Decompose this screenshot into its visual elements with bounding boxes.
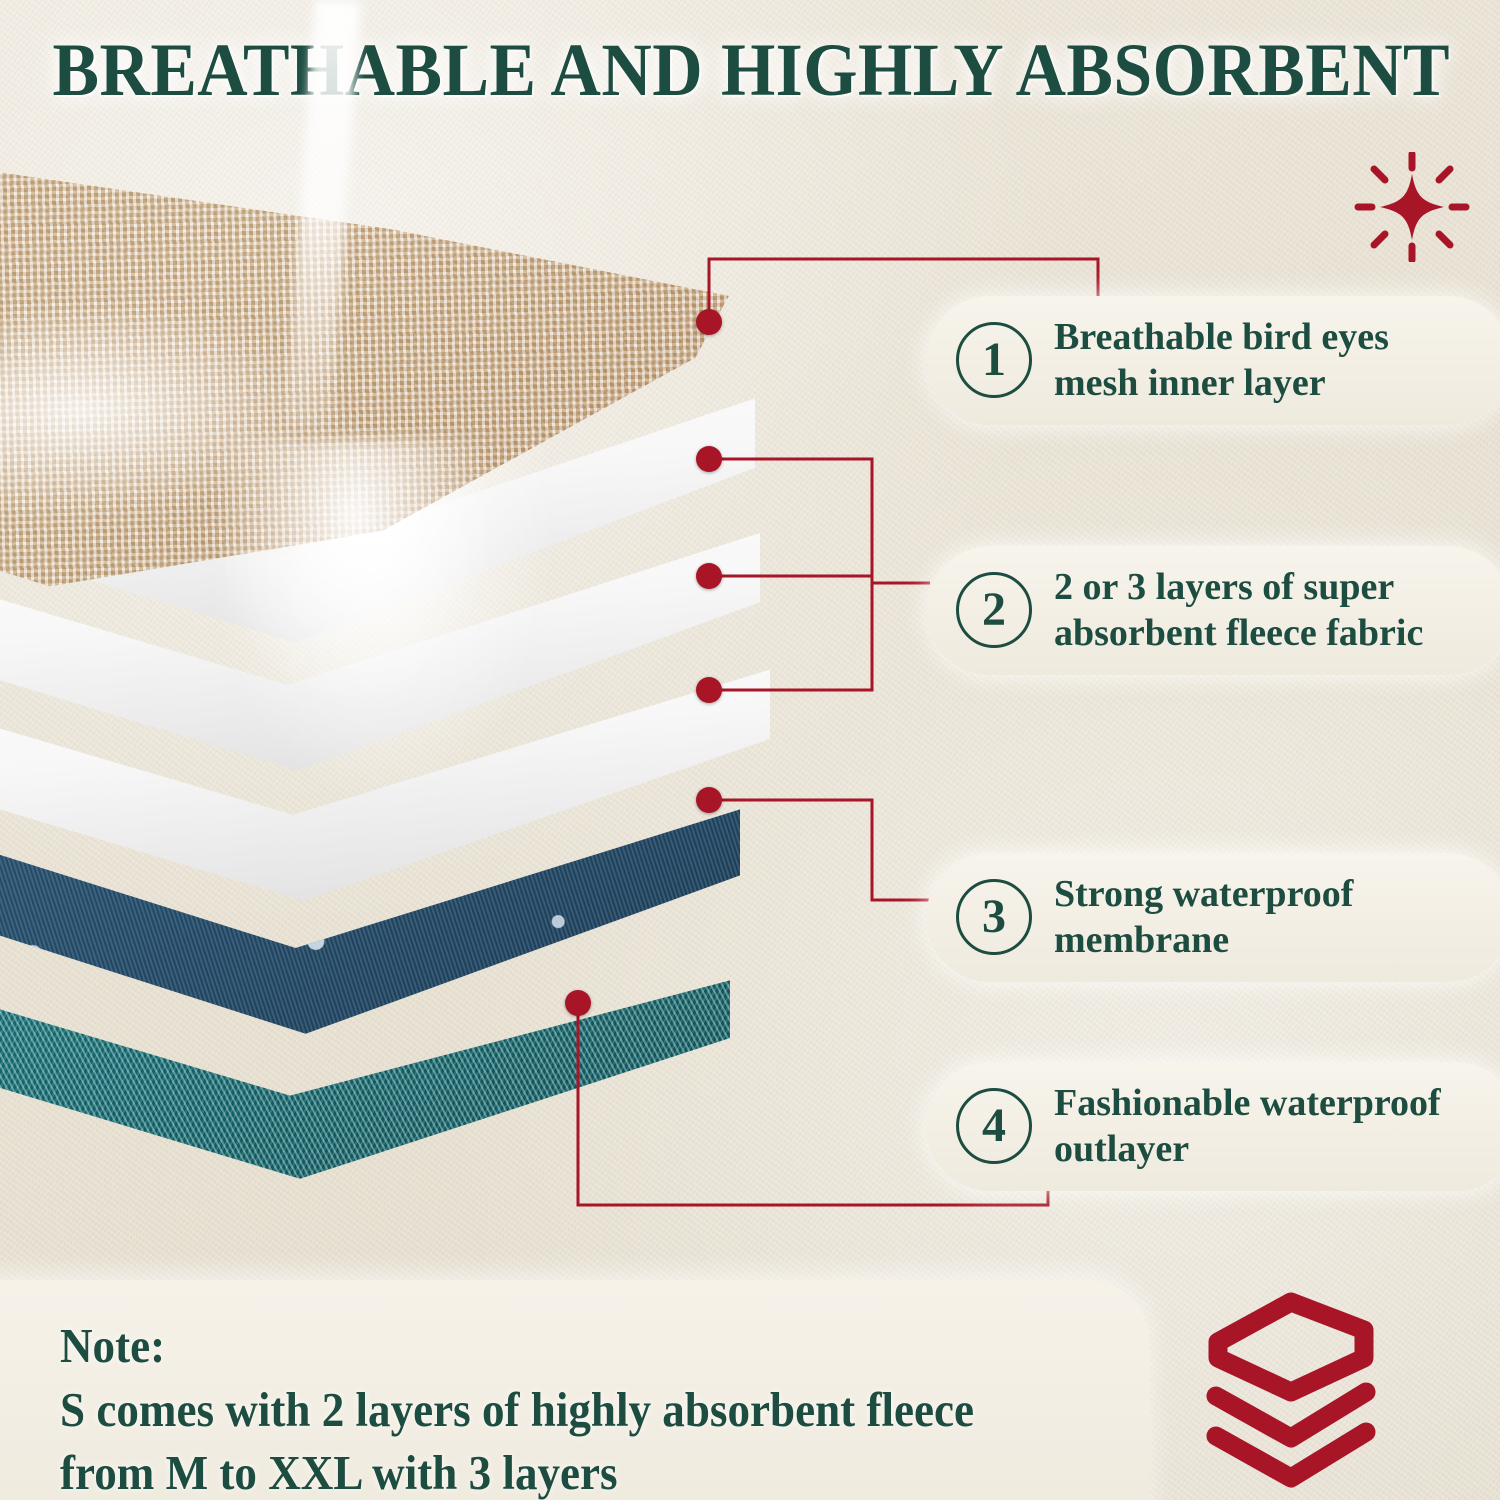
callout-4-label: Fashionable waterproof outlayer xyxy=(1054,1080,1441,1173)
note-heading: Note: xyxy=(60,1314,974,1378)
callout-3: 3 Strong waterproof membrane xyxy=(926,853,1500,982)
sparkle-icon xyxy=(1352,152,1472,262)
callout-2: 2 2 or 3 layers of super absorbent fleec… xyxy=(926,546,1500,675)
callout-1-label: Breathable bird eyes mesh inner layer xyxy=(1054,314,1389,407)
water-splash xyxy=(190,440,520,740)
callout-3-number: 3 xyxy=(956,879,1032,955)
callout-4: 4 Fashionable waterproof outlayer xyxy=(926,1062,1500,1191)
callout-2-label: 2 or 3 layers of super absorbent fleece … xyxy=(1054,564,1423,657)
note-line-1: S comes with 2 layers of highly absorben… xyxy=(60,1378,974,1442)
infographic-canvas: BREATHABLE AND HIGHLY ABSORBENT xyxy=(0,0,1500,1500)
layers-stack-icon xyxy=(1186,1288,1396,1488)
anchor-dot-1 xyxy=(696,309,722,335)
note-panel: Note: S comes with 2 layers of highly ab… xyxy=(0,1280,1150,1500)
anchor-dot-3 xyxy=(696,787,722,813)
anchor-dot-2c xyxy=(696,677,722,703)
callout-1: 1 Breathable bird eyes mesh inner layer xyxy=(926,296,1500,425)
callout-1-number: 1 xyxy=(956,322,1032,398)
anchor-dot-4 xyxy=(565,990,591,1016)
callout-3-label: Strong waterproof membrane xyxy=(1054,871,1353,964)
callout-4-number: 4 xyxy=(956,1088,1032,1164)
anchor-dot-2a xyxy=(696,446,722,472)
callout-2-number: 2 xyxy=(956,572,1032,648)
anchor-dot-2b xyxy=(696,563,722,589)
note-text: Note: S comes with 2 layers of highly ab… xyxy=(60,1314,974,1500)
note-line-2: from M to XXL with 3 layers xyxy=(60,1441,974,1500)
fabric-layer-stack xyxy=(0,110,860,1170)
page-title: BREATHABLE AND HIGHLY ABSORBENT xyxy=(53,28,1448,114)
